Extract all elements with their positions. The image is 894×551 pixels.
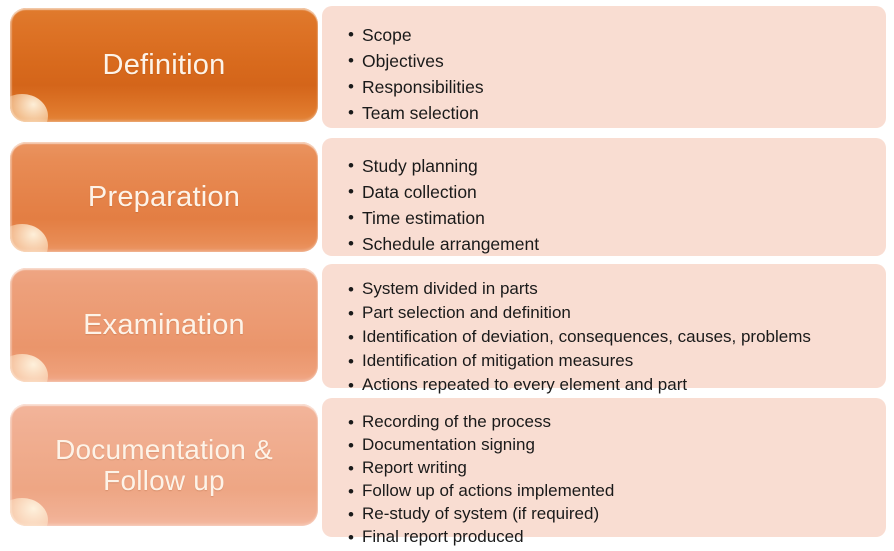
- list-item: Time estimation: [348, 205, 872, 231]
- stage-bullet-list-documentation-follow-up: Recording of the process Documentation s…: [348, 408, 872, 548]
- stage-label-examination: Examination: [73, 309, 255, 341]
- stage-bullet-list-preparation: Study planning Data collection Time esti…: [348, 148, 872, 257]
- list-item: Actions repeated to every element and pa…: [348, 373, 872, 397]
- list-item: Objectives: [348, 48, 872, 74]
- list-item: Team selection: [348, 100, 872, 126]
- stage-label-preparation: Preparation: [78, 181, 250, 213]
- list-item: Responsibilities: [348, 74, 872, 100]
- stage-button-documentation-follow-up[interactable]: Documentation & Follow up: [10, 404, 318, 526]
- stage-bullet-list-definition: Scope Objectives Responsibilities Team s…: [348, 16, 872, 126]
- list-item: Re-study of system (if required): [348, 502, 872, 525]
- stage-button-preparation[interactable]: Preparation: [10, 142, 318, 252]
- list-item: Final report produced: [348, 525, 872, 548]
- list-item: Follow up of actions implemented: [348, 479, 872, 502]
- stage-panel-documentation-follow-up: Recording of the process Documentation s…: [322, 398, 886, 537]
- process-stages-diagram: Definition Scope Objectives Responsibili…: [0, 0, 894, 543]
- list-item: Report writing: [348, 456, 872, 479]
- list-item: Part selection and definition: [348, 301, 872, 325]
- stage-bullet-list-examination: System divided in parts Part selection a…: [348, 274, 872, 397]
- list-item: Documentation signing: [348, 433, 872, 456]
- list-item: Schedule arrangement: [348, 231, 872, 257]
- list-item: Scope: [348, 22, 872, 48]
- stage-label-documentation-follow-up: Documentation & Follow up: [10, 434, 318, 497]
- stage-row-definition: Definition Scope Objectives Responsibili…: [0, 4, 894, 126]
- stage-button-examination[interactable]: Examination: [10, 268, 318, 382]
- list-item: Identification of mitigation measures: [348, 349, 872, 373]
- stage-panel-examination: System divided in parts Part selection a…: [322, 264, 886, 388]
- list-item: Identification of deviation, consequence…: [348, 325, 872, 349]
- stage-panel-definition: Scope Objectives Responsibilities Team s…: [322, 6, 886, 128]
- list-item: Study planning: [348, 153, 872, 179]
- stage-panel-preparation: Study planning Data collection Time esti…: [322, 138, 886, 256]
- list-item: Recording of the process: [348, 410, 872, 433]
- list-item: System divided in parts: [348, 277, 872, 301]
- stage-label-definition: Definition: [93, 49, 236, 81]
- stage-row-examination: Examination System divided in parts Part…: [0, 262, 894, 389]
- list-item: Data collection: [348, 179, 872, 205]
- stage-button-definition[interactable]: Definition: [10, 8, 318, 122]
- stage-row-documentation-follow-up: Documentation & Follow up Recording of t…: [0, 396, 894, 537]
- stage-row-preparation: Preparation Study planning Data collecti…: [0, 136, 894, 256]
